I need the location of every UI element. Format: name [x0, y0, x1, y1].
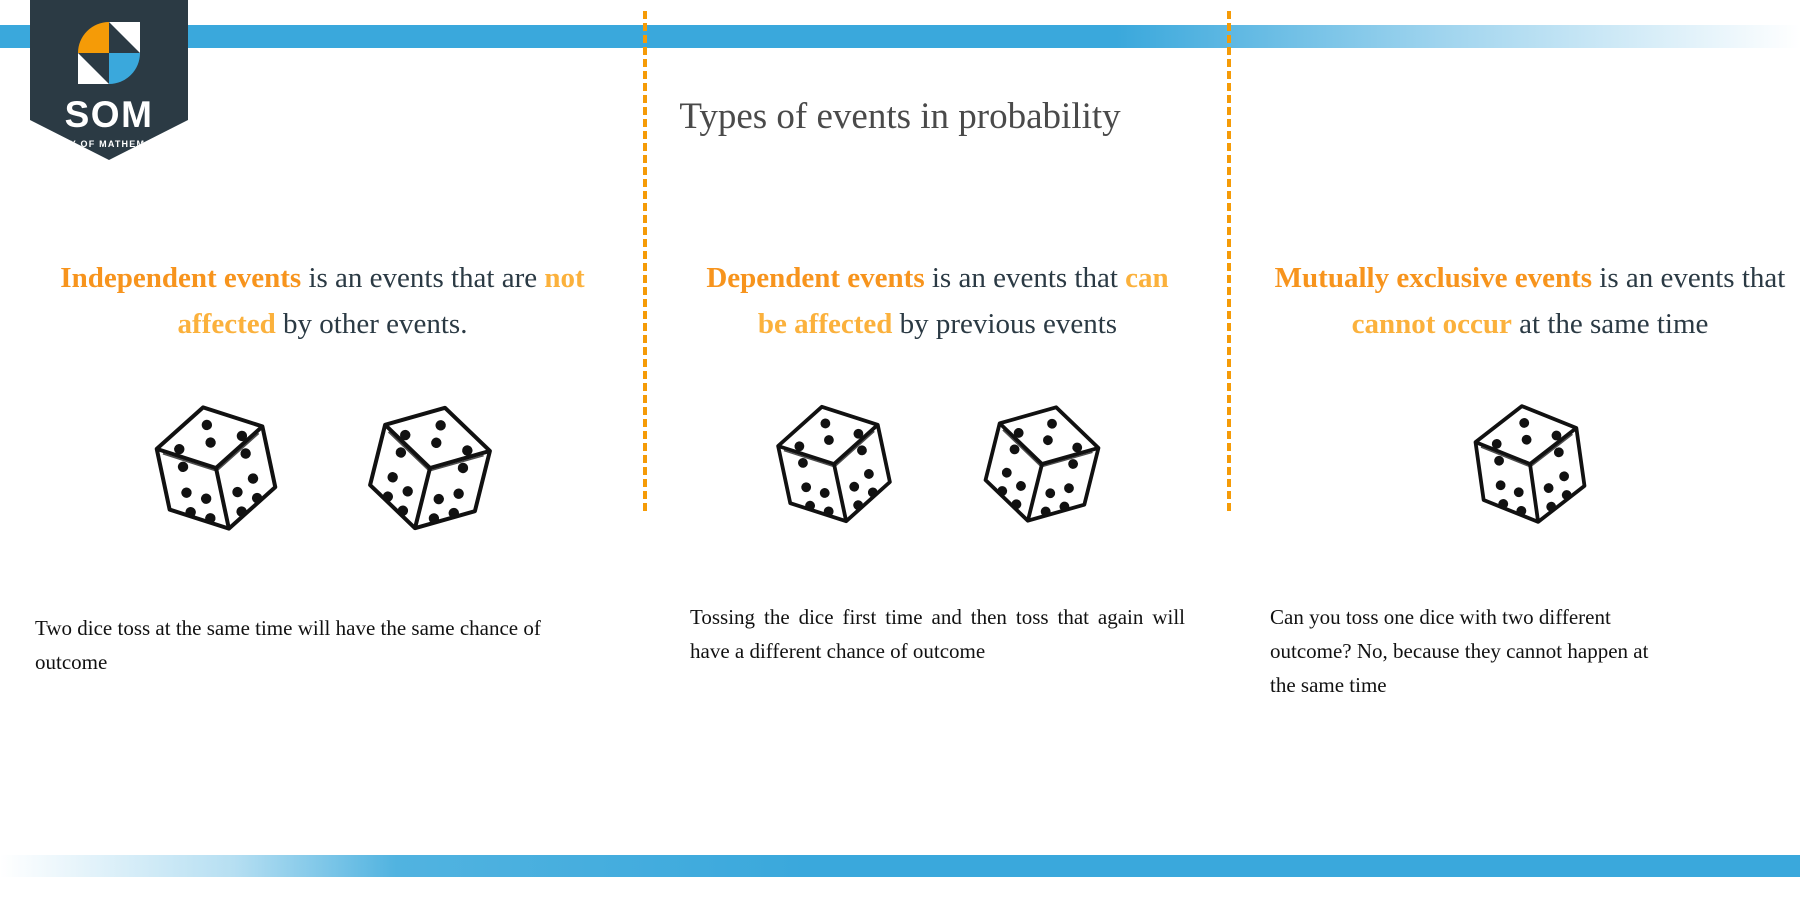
brand-tagline: STORY OF MATHEMATICS — [40, 139, 177, 149]
caption-dependent: Tossing the dice first time and then tos… — [690, 600, 1185, 668]
caption-mutually-exclusive: Can you toss one dice with two different… — [1270, 600, 1790, 702]
headline-independent: Independent events is an events that are… — [35, 255, 610, 348]
dice-row-independent — [35, 398, 610, 548]
headline-strong: Independent events — [60, 262, 301, 294]
slide-root: SOM STORY OF MATHEMATICS Types of events… — [0, 0, 1800, 900]
dice-row-dependent — [690, 398, 1185, 548]
headline-mid: is an events that are — [301, 262, 544, 294]
die-icon-right — [368, 398, 492, 538]
caption-line: Can you toss one dice with two different — [1270, 600, 1790, 634]
headline-mid: is an events that — [925, 262, 1126, 294]
column-mutually-exclusive: Mutually exclusive events is an events t… — [1230, 255, 1800, 815]
die-icon-left — [775, 398, 893, 530]
die-icon-right — [983, 398, 1101, 530]
headline-mid: is an events that — [1592, 262, 1785, 294]
die-icon-single — [1471, 398, 1589, 530]
column-independent: Independent events is an events that are… — [0, 255, 645, 815]
headline-em: cannot occur — [1352, 308, 1512, 340]
columns-container: Independent events is an events that are… — [0, 255, 1800, 815]
top-accent-bar — [0, 25, 1800, 48]
mark-quarter-blue — [109, 53, 140, 84]
caption-line: the same time — [1270, 668, 1790, 702]
mark-quarter-white-bottom — [78, 53, 109, 84]
headline-tail: at the same time — [1512, 308, 1709, 340]
mark-quarter-white-top — [109, 22, 140, 53]
headline-mutually-exclusive: Mutually exclusive events is an events t… — [1270, 255, 1790, 348]
mark-quarter-orange — [78, 22, 109, 53]
caption-line: outcome? No, because they cannot happen … — [1270, 634, 1790, 668]
headline-tail: by previous events — [892, 308, 1117, 340]
die-icon-left — [154, 398, 278, 538]
som-s-mark-icon — [78, 22, 140, 84]
dice-row-mutually-exclusive — [1270, 398, 1790, 548]
column-dependent: Dependent events is an events that can b… — [645, 255, 1230, 815]
headline-tail: by other events. — [276, 308, 468, 340]
headline-strong: Mutually exclusive events — [1275, 262, 1592, 294]
page-title: Types of events in probability — [0, 95, 1800, 138]
caption-independent: Two dice toss at the same time will have… — [35, 611, 610, 679]
bottom-accent-bar — [0, 855, 1800, 877]
headline-strong: Dependent events — [706, 262, 924, 294]
headline-dependent: Dependent events is an events that can b… — [690, 255, 1185, 348]
